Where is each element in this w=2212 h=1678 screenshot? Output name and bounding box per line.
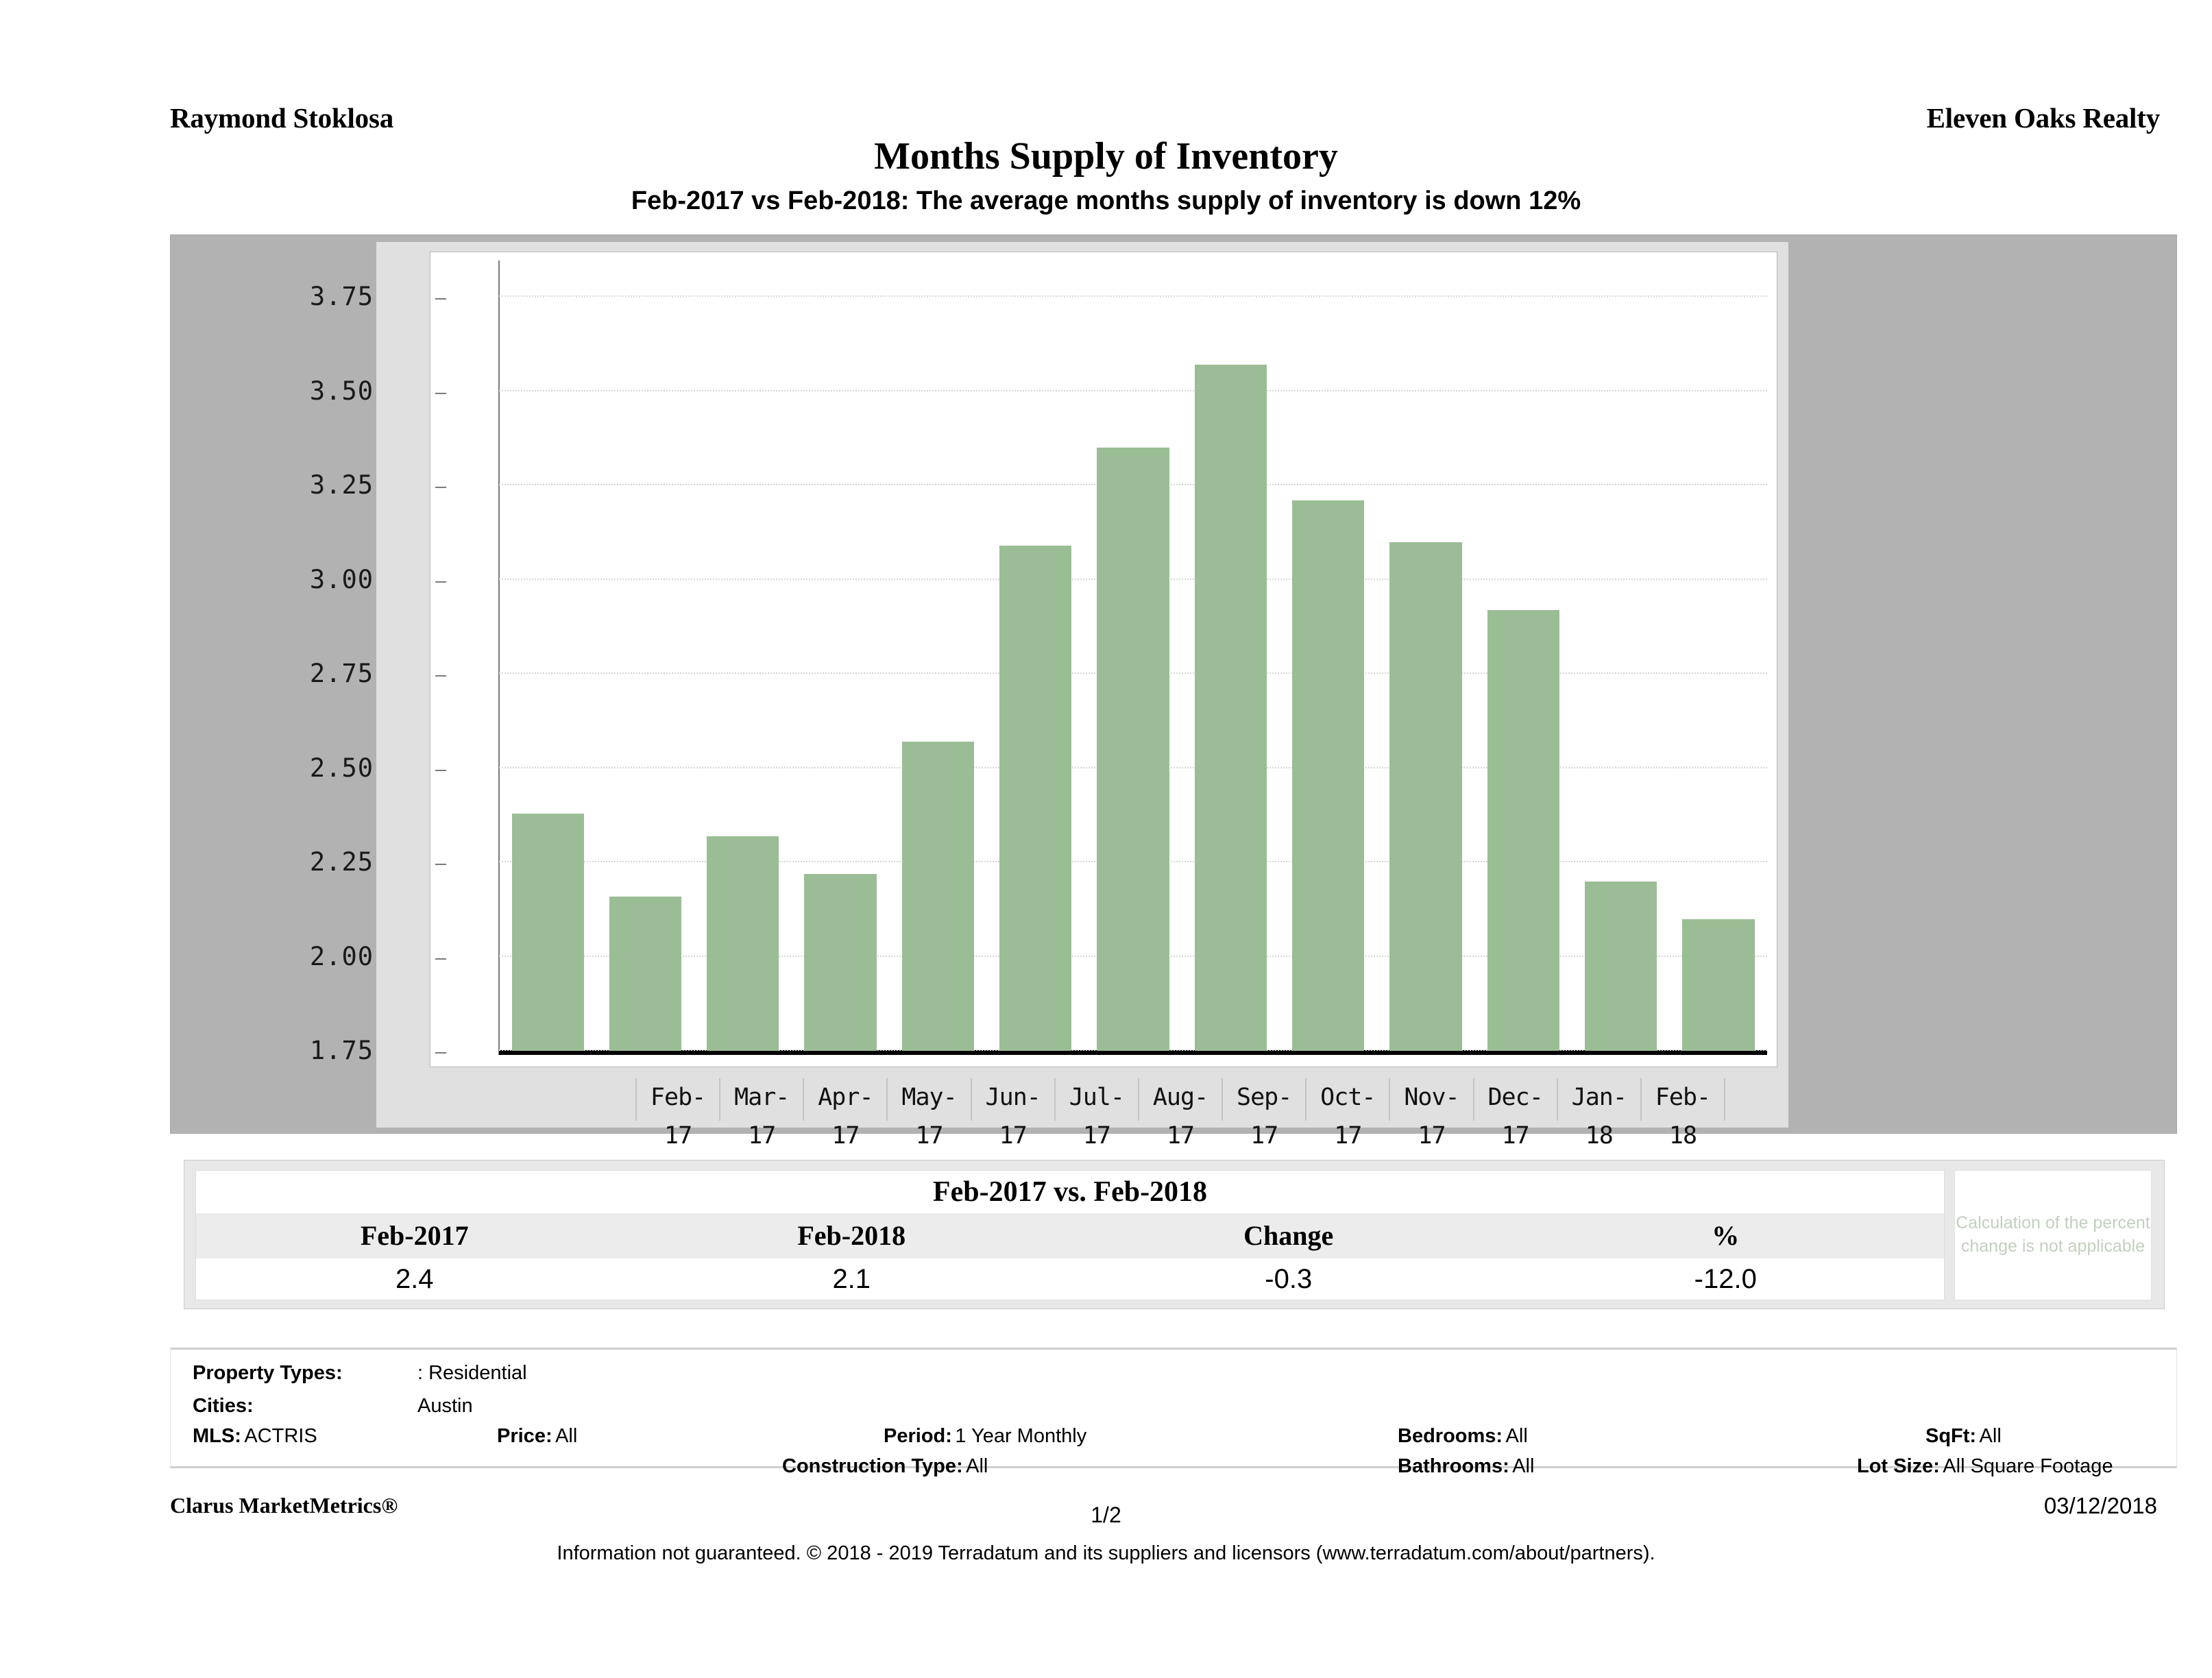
x-tick-label: Mar-17 — [719, 1078, 803, 1121]
footer-disclaimer: Information not guaranteed. © 2018 - 201… — [0, 1542, 2212, 1565]
bar[interactable] — [804, 874, 876, 1051]
summary-value-row: 2.42.1-0.3-12.0 — [196, 1258, 1944, 1300]
summary-title: Feb-2017 vs. Feb-2018 — [196, 1171, 1944, 1213]
chart-outer-frame: Months 1.752.002.252.502.753.003.253.503… — [170, 234, 2177, 1134]
x-tick-labels: Feb-17Mar-17Apr-17May-17Jun-17Jul-17Aug-… — [635, 1078, 1725, 1121]
cities-value: Austin — [417, 1395, 473, 1417]
property-types-value: : Residential — [417, 1362, 527, 1384]
bedrooms-value: All — [1506, 1425, 1528, 1447]
y-tick-label: 2.25 — [223, 847, 374, 877]
lotsize-value: All Square Footage — [1943, 1455, 2113, 1477]
y-tick-label: 3.75 — [223, 282, 374, 311]
footer-page-number: 1/2 — [0, 1503, 2212, 1528]
summary-value-cell: -0.3 — [1070, 1258, 1507, 1300]
x-axis-line — [499, 1050, 1767, 1055]
construction-label: Construction Type: — [782, 1455, 963, 1477]
bar[interactable] — [707, 836, 779, 1051]
bar-cell[interactable] — [1572, 260, 1669, 1051]
bar-cell[interactable] — [1182, 260, 1279, 1051]
summary-header-cell: Change — [1070, 1213, 1507, 1258]
summary-section: Feb-2017 vs. Feb-2018 Feb-2017Feb-2018Ch… — [184, 1160, 2165, 1309]
bar[interactable] — [1097, 448, 1169, 1051]
criteria-property-types-value: : Residential — [417, 1362, 527, 1385]
criteria-bathrooms: Bathrooms: All — [1398, 1455, 1534, 1478]
bar[interactable] — [512, 814, 584, 1051]
bar[interactable] — [1487, 610, 1559, 1051]
search-criteria: Property Types: : Residential Cities: Au… — [170, 1348, 2177, 1468]
bar-cell[interactable] — [1474, 260, 1572, 1051]
criteria-price: Price: All — [497, 1425, 577, 1448]
mls-value: ACTRIS — [244, 1425, 317, 1447]
bar[interactable] — [1682, 919, 1754, 1051]
bar[interactable] — [1585, 881, 1657, 1051]
y-tick-mark — [435, 770, 446, 771]
brokerage-name: Eleven Oaks Realty — [1927, 101, 2160, 134]
bar-cell[interactable] — [889, 260, 986, 1051]
summary-value-cell: 2.4 — [196, 1258, 633, 1300]
criteria-bedrooms: Bedrooms: All — [1398, 1425, 1528, 1448]
chart-panel: Months 1.752.002.252.502.753.003.253.503… — [376, 242, 1788, 1128]
y-tick-label: 2.75 — [223, 659, 374, 688]
x-tick-label: Dec-17 — [1473, 1078, 1557, 1121]
bar-cell[interactable] — [499, 260, 596, 1051]
bar-cell[interactable] — [987, 260, 1084, 1051]
sqft-label: SqFt: — [1925, 1425, 1976, 1447]
x-tick-label: Jul-17 — [1054, 1078, 1138, 1121]
lotsize-label: Lot Size: — [1857, 1455, 1940, 1477]
summary-header-cell: Feb-2018 — [633, 1213, 1071, 1258]
summary-value-cell: -12.0 — [1507, 1258, 1945, 1300]
percent-change-note: Calculation of the percent change is not… — [1954, 1170, 2152, 1300]
page-subtitle: Feb-2017 vs Feb-2018: The average months… — [0, 186, 2212, 216]
bar-cell[interactable] — [596, 260, 694, 1051]
bar-cell[interactable] — [1084, 260, 1182, 1051]
bathrooms-value: All — [1512, 1455, 1534, 1477]
bar[interactable] — [609, 897, 681, 1051]
x-tick-label: Jan-18 — [1557, 1078, 1640, 1121]
price-label: Price: — [497, 1425, 552, 1447]
x-tick-label: Feb-18 — [1640, 1078, 1725, 1121]
y-tick-label: 2.50 — [223, 753, 374, 783]
plot-area — [430, 252, 1777, 1067]
bar-cell[interactable] — [1670, 260, 1767, 1051]
y-tick-label: 3.50 — [223, 376, 374, 406]
summary-value-cell: 2.1 — [633, 1258, 1071, 1300]
x-tick-label: Jun-17 — [971, 1078, 1054, 1121]
x-tick-label: Aug-17 — [1138, 1078, 1222, 1121]
bar-cell[interactable] — [694, 260, 792, 1051]
bedrooms-label: Bedrooms: — [1398, 1425, 1503, 1447]
x-tick-label: Oct-17 — [1305, 1078, 1389, 1121]
bar-series — [499, 260, 1767, 1051]
x-tick-label: May-17 — [886, 1078, 970, 1121]
y-tick-mark — [435, 1052, 446, 1054]
report-page: Raymond Stoklosa Eleven Oaks Realty Mont… — [0, 0, 2212, 1678]
x-tick-label: Apr-17 — [803, 1078, 886, 1121]
criteria-lotsize: Lot Size: All Square Footage — [1857, 1455, 2113, 1478]
bathrooms-label: Bathrooms: — [1398, 1455, 1509, 1477]
y-tick-mark — [435, 675, 446, 677]
percent-change-note-text: Calculation of the percent change is not… — [1955, 1212, 2151, 1258]
y-tick-mark — [435, 864, 446, 865]
plot-inner — [499, 260, 1767, 1051]
criteria-property-types: Property Types: — [193, 1362, 343, 1385]
y-tick-label: 1.75 — [223, 1036, 374, 1065]
bar[interactable] — [1389, 542, 1461, 1051]
bar[interactable] — [902, 742, 974, 1051]
y-tick-mark — [435, 393, 446, 394]
page-title: Months Supply of Inventory — [0, 134, 2212, 178]
bar-cell[interactable] — [1280, 260, 1377, 1051]
x-tick-label: Sep-17 — [1222, 1078, 1305, 1121]
agent-name: Raymond Stoklosa — [170, 101, 393, 134]
period-value: 1 Year Monthly — [955, 1425, 1086, 1447]
bar[interactable] — [1195, 365, 1267, 1051]
bar[interactable] — [999, 546, 1071, 1051]
bar-cell[interactable] — [792, 260, 889, 1051]
bar-cell[interactable] — [1377, 260, 1474, 1051]
cities-label: Cities: — [193, 1395, 254, 1417]
property-types-label: Property Types: — [193, 1362, 343, 1384]
period-label: Period: — [884, 1425, 952, 1447]
x-tick-label: Nov-17 — [1389, 1078, 1472, 1121]
mls-label: MLS: — [193, 1425, 241, 1447]
criteria-sqft: SqFt: All — [1925, 1425, 2002, 1448]
y-tick-label: 3.00 — [223, 565, 374, 594]
sqft-value: All — [1980, 1425, 2002, 1447]
summary-header-row: Feb-2017Feb-2018Change% — [196, 1213, 1944, 1258]
x-tick-label: Feb-17 — [635, 1078, 719, 1121]
summary-header-cell: Feb-2017 — [196, 1213, 633, 1258]
price-value: All — [555, 1425, 577, 1447]
y-tick-label: 2.00 — [223, 942, 374, 971]
y-tick-label: 3.25 — [223, 470, 374, 500]
y-tick-mark — [435, 487, 446, 488]
summary-table: Feb-2017 vs. Feb-2018 Feb-2017Feb-2018Ch… — [195, 1170, 1945, 1300]
y-tick-mark — [435, 581, 446, 583]
bar[interactable] — [1292, 500, 1364, 1051]
criteria-mls: MLS: ACTRIS — [193, 1425, 317, 1448]
criteria-cities: Cities: — [193, 1395, 254, 1418]
construction-value: All — [966, 1455, 988, 1477]
summary-header-cell: % — [1507, 1213, 1945, 1258]
criteria-construction: Construction Type: All — [782, 1455, 988, 1478]
footer-date: 03/12/2018 — [2044, 1493, 2157, 1519]
criteria-period: Period: 1 Year Monthly — [884, 1425, 1086, 1448]
y-tick-mark — [435, 298, 446, 300]
criteria-cities-value: Austin — [417, 1395, 473, 1418]
y-tick-mark — [435, 958, 446, 960]
